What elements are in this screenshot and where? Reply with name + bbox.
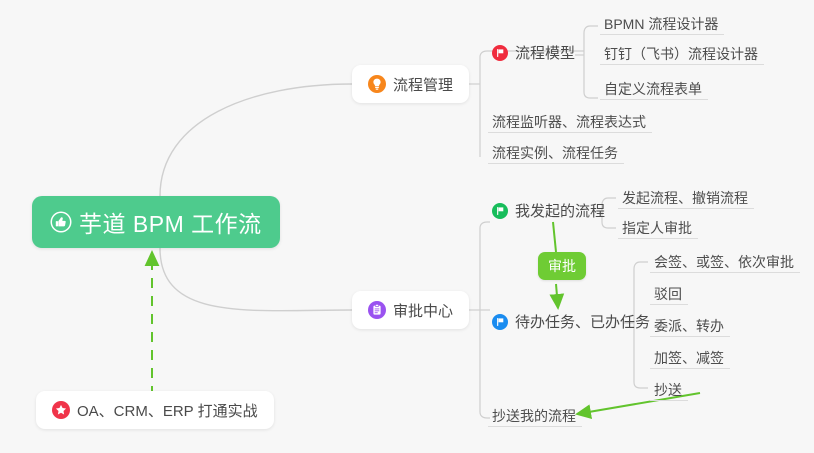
leaf-label-custom-process-form: 自定义流程表单: [604, 82, 702, 96]
node-process-model[interactable]: 流程模型: [492, 42, 575, 63]
leaf-bpmn-designer[interactable]: BPMN 流程设计器: [600, 8, 724, 35]
branch-label-process-management: 流程管理: [393, 74, 453, 95]
label-todo-done-tasks: 待办任务、已办任务: [515, 311, 650, 332]
leaf-process-instance-task[interactable]: 流程实例、流程任务: [488, 137, 624, 164]
leaf-label-cc-to-me-process: 抄送我的流程: [492, 409, 576, 423]
leaf-cc[interactable]: 抄送: [650, 374, 688, 401]
leaf-label-process-listener-expression: 流程监听器、流程表达式: [492, 115, 646, 129]
root-node[interactable]: 芋道 BPM 工作流: [32, 196, 280, 248]
mindmap-canvas[interactable]: 芋道 BPM 工作流 流程管理 流程模型 BPMN 流程设计器 钉钉（飞书: [0, 0, 814, 453]
floating-node-oa-crm-erp[interactable]: OA、CRM、ERP 打通实战: [36, 391, 274, 429]
leaf-label-reject: 驳回: [654, 287, 682, 301]
connector-root-to-process-management: [160, 84, 352, 196]
leaf-label-countersign-or-sequential: 会签、或签、依次审批: [654, 255, 794, 269]
relation-approval-upper: [553, 222, 556, 252]
star-icon: [52, 401, 70, 419]
clipboard-icon: [368, 301, 386, 319]
flag-icon: [492, 45, 508, 61]
leaf-custom-process-form[interactable]: 自定义流程表单: [600, 73, 708, 100]
relation-approval-lower: [556, 284, 558, 308]
relation-tag-approval[interactable]: 审批: [538, 252, 586, 280]
leaf-countersign-or-sequential[interactable]: 会签、或签、依次审批: [650, 246, 800, 273]
leaf-label-dingtalk-feishu-designer: 钉钉（飞书）流程设计器: [604, 47, 758, 61]
branch-node-process-management[interactable]: 流程管理: [352, 65, 469, 103]
leaf-add-remove-sign[interactable]: 加签、减签: [650, 342, 730, 369]
leaf-label-cc: 抄送: [654, 383, 682, 397]
leaf-start-cancel-process[interactable]: 发起流程、撤销流程: [618, 182, 754, 209]
branch-label-approval-center: 审批中心: [393, 300, 453, 321]
label-my-initiated-process: 我发起的流程: [515, 200, 605, 221]
leaf-label-delegate-transfer: 委派、转办: [654, 319, 724, 333]
leaf-reject[interactable]: 驳回: [650, 278, 688, 305]
label-process-model: 流程模型: [515, 42, 575, 63]
floating-label-oa-crm-erp: OA、CRM、ERP 打通实战: [77, 400, 258, 421]
branch-node-approval-center[interactable]: 审批中心: [352, 291, 469, 329]
flag-icon: [492, 314, 508, 330]
node-my-initiated-process[interactable]: 我发起的流程: [492, 200, 605, 221]
lightbulb-icon: [368, 75, 386, 93]
connector-root-to-approval-center: [160, 248, 352, 311]
leaf-label-start-cancel-process: 发起流程、撤销流程: [622, 191, 748, 205]
connector-process-management-spine: [474, 57, 480, 157]
root-label: 芋道 BPM 工作流: [79, 205, 262, 239]
leaf-label-bpmn-designer: BPMN 流程设计器: [604, 17, 718, 31]
leaf-process-listener-expression[interactable]: 流程监听器、流程表达式: [488, 106, 652, 133]
leaf-assignee-approval[interactable]: 指定人审批: [618, 212, 698, 239]
connector-process-model-spine: [584, 26, 598, 98]
flag-icon: [492, 203, 508, 219]
leaf-label-process-instance-task: 流程实例、流程任务: [492, 146, 618, 160]
leaf-dingtalk-feishu-designer[interactable]: 钉钉（飞书）流程设计器: [600, 38, 764, 65]
leaf-label-add-remove-sign: 加签、减签: [654, 351, 724, 365]
thumbs-up-icon: [50, 211, 72, 233]
leaf-delegate-transfer[interactable]: 委派、转办: [650, 310, 730, 337]
node-todo-done-tasks[interactable]: 待办任务、已办任务: [492, 311, 650, 332]
leaf-cc-to-me-process[interactable]: 抄送我的流程: [488, 400, 582, 427]
connector-approval-center-spine: [480, 222, 490, 418]
leaf-label-assignee-approval: 指定人审批: [622, 221, 692, 235]
